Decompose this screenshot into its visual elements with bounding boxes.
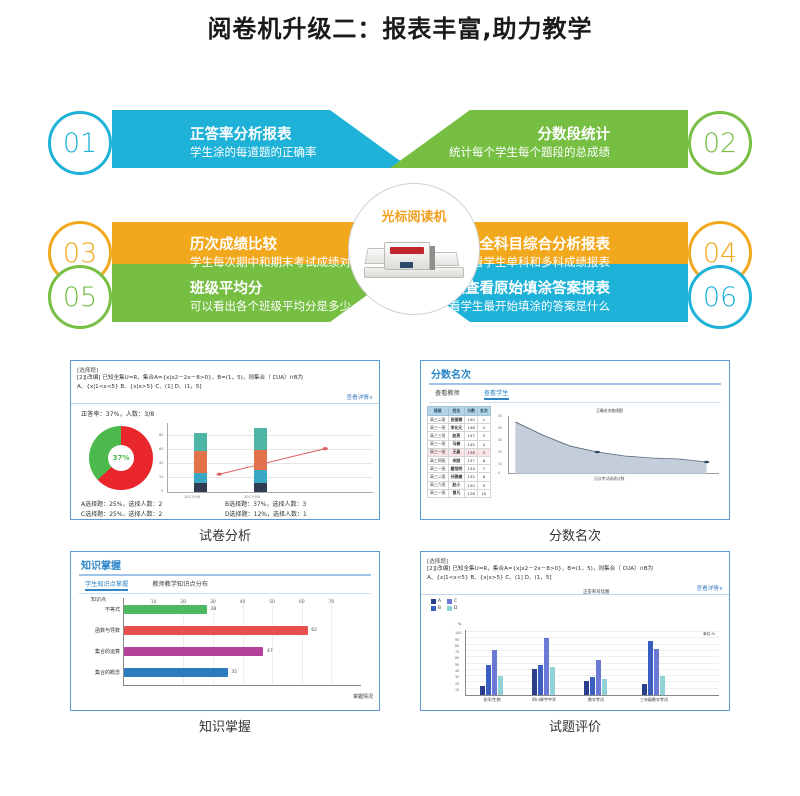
bar-g2-a xyxy=(532,669,537,695)
legend-label-b: B xyxy=(438,606,441,611)
rank-curve-xlabel: 历次考试成绩次数 xyxy=(496,474,723,482)
view-detail-link[interactable]: 查看详情∨ xyxy=(77,391,373,401)
chart-right-note: 单位:% xyxy=(703,632,715,637)
series-legend: A B C D xyxy=(421,595,729,611)
panel-cell-paper-analysis: [选择题] [2][改编] 已知全集U=R，集合A={x|x2－2x－8>0}，… xyxy=(70,360,380,551)
xtick-50: 50 xyxy=(269,600,275,605)
feature-sub-01: 学生涂的每道题的正确率 xyxy=(190,145,402,160)
knowledge-x-caption: 掌握情况 xyxy=(353,693,373,700)
bar-label-3: 集合的概念 xyxy=(76,669,120,676)
hub-label: 光标阅读机 xyxy=(381,206,446,225)
feature-number-01[interactable]: 01 xyxy=(48,111,112,175)
bar-g4-a xyxy=(642,684,647,695)
question-line-1: [2][改编] 已知全集U=R，集合A={x|x2－2x－8>0}，B=(1，5… xyxy=(427,565,723,574)
group-chart-title: 正答率对比图 xyxy=(463,589,729,611)
trend-line xyxy=(168,423,373,492)
chart-row: 37% xyxy=(71,418,379,496)
option-stat-d: D选择题：12%，选择人数：1 xyxy=(225,510,369,520)
screenshot-gallery: [选择题] [2][改编] 已知全集U=R，集合A={x|x2－2x－8>0}，… xyxy=(0,356,800,742)
panel-knowledge-mastery[interactable]: 知识掌握 学生知识点掌握 教师教学知识点分布 知识点 不等式 xyxy=(70,551,380,711)
item-evaluation-group-bar-chart: % 单位:% 10 20 30 40 50 60 70 80 90 100 xyxy=(465,630,719,696)
panel-caption-knowledge: 知识掌握 xyxy=(70,711,380,742)
question-line-1: [2][改编] 已知全集U=R，集合A={x|x2－2x－8>0}，B=(1，5… xyxy=(77,374,373,383)
table-row: 高三二班孙雅楠1328 xyxy=(428,473,491,481)
group-label-2: 数学考试 xyxy=(588,697,604,703)
legend-label-c: C xyxy=(454,599,457,604)
xtick-10: 10 xyxy=(151,600,157,605)
option-stat-b: B选择题：37%，选择人数：3 xyxy=(225,500,369,510)
tab-view-teacher[interactable]: 查看教师 xyxy=(435,388,460,400)
bar-0 xyxy=(124,605,207,614)
screenshot-row-top: [选择题] [2][改编] 已知全集U=R，集合A={x|x2－2x－8>0}，… xyxy=(0,360,800,551)
tab-bar: 查看教师 查看学生 xyxy=(421,385,729,402)
panel-cell-score-rank: 分数名次 查看教师 查看学生 班级 姓名 分数 名次 xyxy=(420,360,730,551)
bar-g4-c xyxy=(654,649,659,695)
legend-item-d: D xyxy=(447,606,457,611)
screenshot-row-bottom: 知识掌握 学生知识点掌握 教师教学知识点分布 知识点 不等式 xyxy=(0,551,800,742)
panel-caption-item-evaluation: 试题评价 xyxy=(420,711,730,742)
legend-item-a: A xyxy=(431,599,441,604)
table-header-row: 班级 姓名 分数 名次 xyxy=(428,407,491,416)
legend-swatch-b xyxy=(431,606,436,611)
group-label-1: 四川辉宇中学 xyxy=(532,697,556,703)
tab-view-student[interactable]: 查看学生 xyxy=(484,388,509,400)
feature-number-02[interactable]: 02 xyxy=(688,111,752,175)
bar-1 xyxy=(124,626,308,635)
group-label-3: 三年级数学考试 xyxy=(640,697,668,703)
table-row: 高三一班王晶1385 xyxy=(428,448,491,456)
feature-title-02: 分数段统计 xyxy=(538,126,611,144)
option-stat-c: C选择题：25%，选择人数：2 xyxy=(81,510,225,520)
feature-title-04: 全科目综合分析报表 xyxy=(480,236,611,254)
legend-swatch-a xyxy=(431,599,436,604)
bar-g1-a xyxy=(480,686,485,695)
panel-title-knowledge: 知识掌握 xyxy=(71,552,379,574)
legend-label-d: D xyxy=(454,606,457,611)
knowledge-y-axis-label: 知识点 xyxy=(91,596,106,603)
knowledge-bar-chart: 不等式 28 函数与导数 62 集合的运算 47 集合的概念 35 10 20 … xyxy=(123,598,361,686)
bar-value-3: 35 xyxy=(231,670,237,675)
col-rank: 名次 xyxy=(478,407,491,416)
table-row: 高三三班赵亮1473 xyxy=(428,432,491,440)
bar-g3-a xyxy=(584,681,589,695)
feature-sub-05: 可以看出各个班级平均分是多少 xyxy=(190,299,402,314)
panel-caption-score-rank: 分数名次 xyxy=(420,520,730,551)
feature-title-01: 正答率分析报表 xyxy=(190,126,402,144)
xtick-70: 70 xyxy=(328,600,334,605)
bar-value-0: 28 xyxy=(211,607,217,612)
bar-g2-c xyxy=(544,638,549,695)
feature-number-06[interactable]: 06 xyxy=(688,265,752,329)
xtick-40: 40 xyxy=(240,600,246,605)
option-stack-bar-chart: 0 20 40 60 80 2017/9/8 2017/9/8 xyxy=(167,423,373,493)
tab-underline xyxy=(79,593,371,594)
xtick-20: 20 xyxy=(180,600,186,605)
bar-g3-d xyxy=(602,679,607,695)
table-row: 高三一班曾凡12810 xyxy=(428,489,491,497)
panel-paper-analysis[interactable]: [选择题] [2][改编] 已知全集U=R，集合A={x|x2－2x－8>0}，… xyxy=(70,360,380,520)
xtick-30: 30 xyxy=(210,600,216,605)
feature-ribbon-02[interactable]: 分数段统计 统计每个学生每个题段的总成绩 xyxy=(398,114,688,172)
question-block: [选择题] [2][改编] 已知全集U=R，集合A={x|x2－2x－8>0}，… xyxy=(71,361,379,404)
omr-scanner-device-icon xyxy=(362,234,466,280)
legend-item-b: B xyxy=(431,606,441,611)
tab-teacher-knowledge[interactable]: 教师教学知识点分布 xyxy=(152,579,208,591)
tab-bar: 学生知识点掌握 教师教学知识点分布 xyxy=(71,576,379,593)
center-hub: 光标阅读机 xyxy=(348,183,480,315)
question-line-2: A、{x|1<x<5} B、{x|x>5} C、(1] D、(1，5] xyxy=(427,574,723,583)
bar-g4-b xyxy=(648,641,653,695)
question-line-2: A、{x|1<x<5} B、{x|x>5} C、(1] D、(1，5] xyxy=(77,383,373,392)
bar-label-0: 不等式 xyxy=(76,606,120,613)
legend-swatch-c xyxy=(447,599,452,604)
legend-item-c: C xyxy=(447,599,457,604)
bar-value-1: 62 xyxy=(311,628,317,633)
table-row: 高三一班戴旭明1347 xyxy=(428,465,491,473)
table-row: 高三一班李化元1482 xyxy=(428,424,491,432)
xtick-60: 60 xyxy=(299,600,305,605)
bar-value-2: 47 xyxy=(267,649,273,654)
feature-ribbon-01[interactable]: 正答率分析报表 学生涂的每道题的正确率 xyxy=(112,114,402,172)
option-stats-list: A选择题：25%，选择人数：2 B选择题：37%，选择人数：3 C选择题：25%… xyxy=(71,496,379,519)
bar-g2-b xyxy=(538,665,543,695)
correct-rate-text: 正答率：37%，人数：3/8 xyxy=(71,404,379,418)
panel-cell-knowledge: 知识掌握 学生知识点掌握 教师教学知识点分布 知识点 不等式 xyxy=(70,551,380,742)
question-tag: [选择题] xyxy=(77,366,373,374)
table-row: 高三四班宋刚1376 xyxy=(428,456,491,464)
table-row: 高三六班赵小1309 xyxy=(428,481,491,489)
panel-cell-item-evaluation: [选择题] [2][改编] 已知全集U=R，集合A={x|x2－2x－8>0}，… xyxy=(420,551,730,742)
tab-underline xyxy=(429,402,721,403)
rank-curve-title: 正确名次曲线图 xyxy=(496,406,723,414)
bar-g1-c xyxy=(492,650,497,695)
infographic: 正答率分析报表 学生涂的每道题的正确率 01 分数段统计 统计每个学生每个题段的… xyxy=(0,46,800,356)
table-row: 高三一班马楠1454 xyxy=(428,440,491,448)
panel-title-score-rank: 分数名次 xyxy=(421,361,729,383)
page-title: 阅卷机升级二：报表丰富,助力教学 xyxy=(0,0,800,46)
legend-swatch-d xyxy=(447,606,452,611)
bar-g4-d xyxy=(660,676,665,695)
bar-g2-d xyxy=(550,667,555,695)
donut-value-label: 37% xyxy=(89,426,153,490)
feature-number-05[interactable]: 05 xyxy=(48,265,112,329)
score-content: 班级 姓名 分数 名次 高三二班张丽娜1501 高三一班李化元1482 高三三班… xyxy=(421,406,729,498)
bar-g1-b xyxy=(486,665,491,695)
correct-rate-donut-chart: 37% xyxy=(89,426,153,490)
feature-sub-02: 统计每个学生每个题段的总成绩 xyxy=(449,145,610,160)
y-unit-label: % xyxy=(458,622,461,626)
col-class: 班级 xyxy=(428,407,449,416)
bar-g3-b xyxy=(590,677,595,695)
bar-label-2: 集合的运算 xyxy=(76,648,120,655)
panel-score-rank[interactable]: 分数名次 查看教师 查看学生 班级 姓名 分数 名次 xyxy=(420,360,730,520)
panel-caption-paper-analysis: 试卷分析 xyxy=(70,520,380,551)
bar-3 xyxy=(124,668,228,677)
bar-2 xyxy=(124,647,263,656)
col-score: 分数 xyxy=(465,407,478,416)
bar-g1-d xyxy=(498,676,503,695)
question-tag: [选择题] xyxy=(427,557,723,565)
table-row: 高三二班张丽娜1501 xyxy=(428,416,491,424)
rank-curve-chart: 正确名次曲线图 50 40 30 20 10 0 xyxy=(496,406,723,498)
panel-item-evaluation[interactable]: [选择题] [2][改编] 已知全集U=R，集合A={x|x2－2x－8>0}，… xyxy=(420,551,730,711)
col-name: 姓名 xyxy=(448,407,465,416)
tab-student-knowledge[interactable]: 学生知识点掌握 xyxy=(85,579,128,591)
bar-g3-c xyxy=(596,660,601,695)
bar-label-1: 函数与导数 xyxy=(76,627,120,634)
legend-label-a: A xyxy=(438,599,441,604)
rank-table[interactable]: 班级 姓名 分数 名次 高三二班张丽娜1501 高三一班李化元1482 高三三班… xyxy=(427,406,491,498)
option-stat-a: A选择题：25%，选择人数：2 xyxy=(81,500,225,510)
group-label-0: 化学/生物 xyxy=(483,697,500,703)
